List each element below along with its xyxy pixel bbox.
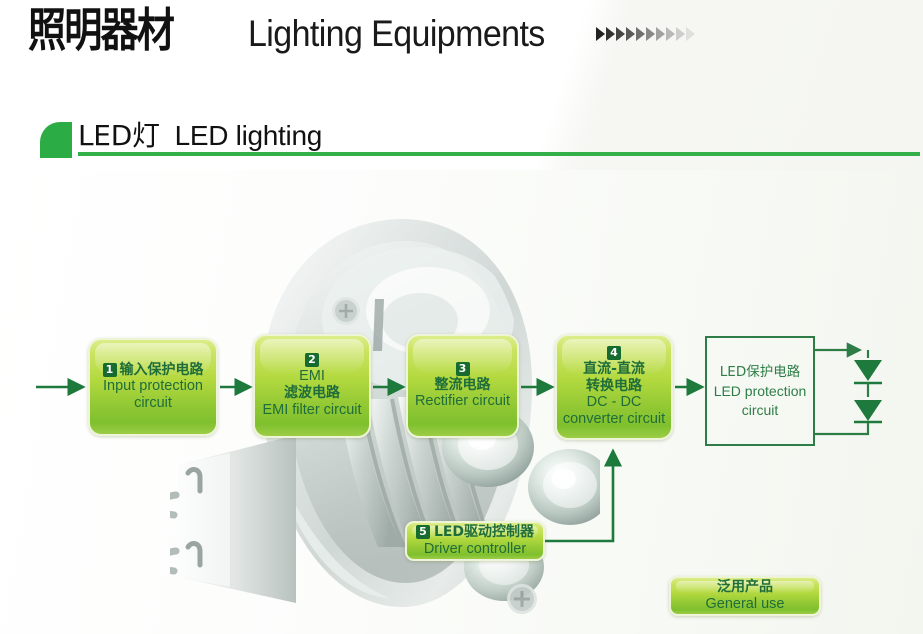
quarter-round-marker-icon bbox=[40, 122, 72, 158]
block-label-chinese: 滤波电路 bbox=[284, 385, 340, 401]
block-label-english-1: LED protection bbox=[714, 382, 807, 401]
triangle-right-icon bbox=[596, 27, 605, 41]
block-label-chinese: LED驱动控制器 bbox=[434, 524, 534, 540]
section-title-english: LED lighting bbox=[175, 120, 322, 151]
block-label-chinese: 输入保护电路 bbox=[120, 362, 204, 378]
page-header: 照明器材 Lighting Equipments 照明器材 Lighting E… bbox=[0, 0, 923, 100]
title-reflection: 照明器材 Lighting Equipments bbox=[28, 58, 648, 96]
triangle-right-icon bbox=[666, 27, 675, 41]
block-badge: 2 bbox=[305, 353, 319, 367]
triangle-right-icon bbox=[646, 27, 655, 41]
page-title-chinese: 照明器材 bbox=[28, 8, 173, 54]
flow-block-input-protection[interactable]: 1 输入保护电路 Input protection circuit bbox=[88, 338, 218, 436]
block-label-english-2: EMI filter circuit bbox=[262, 402, 361, 419]
triangle-right-icon bbox=[656, 27, 665, 41]
title-arrow-strip bbox=[596, 27, 695, 41]
triangle-right-icon bbox=[686, 27, 695, 41]
triangle-right-icon bbox=[626, 27, 635, 41]
section-header: LED灯 LED lighting bbox=[0, 106, 923, 162]
page-title-english: Lighting Equipments bbox=[248, 16, 545, 53]
block-label-english-1: Input protection bbox=[103, 378, 203, 395]
block-label-english-1: General use bbox=[706, 596, 785, 613]
title-reflection-chinese: 照明器材 bbox=[28, 58, 64, 96]
block-label-english-1: Rectifier circuit bbox=[415, 393, 510, 410]
block-label-chinese-1: 直流-直流 bbox=[583, 361, 645, 377]
block-badge: 3 bbox=[456, 362, 470, 376]
flow-block-emi-filter[interactable]: 2 EMI 滤波电路 EMI filter circuit bbox=[253, 334, 371, 438]
block-label-chinese-2: 转换电路 bbox=[586, 378, 642, 394]
block-badge: 4 bbox=[607, 346, 621, 360]
section-title-chinese: LED灯 bbox=[78, 119, 160, 152]
led-bulb-photo bbox=[170, 195, 600, 634]
flow-block-led-protection[interactable]: LED保护电路 LED protection circuit bbox=[705, 336, 815, 446]
block-label-english-1: Driver controller bbox=[424, 541, 526, 558]
block-label-english-1: EMI bbox=[299, 368, 325, 385]
triangle-right-icon bbox=[616, 27, 625, 41]
flow-block-dc-dc-converter[interactable]: 4 直流-直流 转换电路 DC - DC converter circuit bbox=[555, 334, 673, 440]
block-label-chinese: 泛用产品 bbox=[717, 579, 773, 595]
triangle-right-icon bbox=[676, 27, 685, 41]
flow-block-driver-controller[interactable]: 5 LED驱动控制器 Driver controller bbox=[405, 521, 545, 561]
triangle-right-icon bbox=[606, 27, 615, 41]
title-reflection-english: Lighting Equipments bbox=[248, 58, 422, 96]
block-badge: 5 bbox=[416, 525, 430, 539]
block-label-english-2: converter circuit bbox=[563, 411, 665, 428]
block-label-chinese: 整流电路 bbox=[435, 377, 491, 393]
block-label-chinese: LED保护电路 bbox=[720, 362, 800, 382]
block-label-english-2: circuit bbox=[134, 395, 172, 412]
flow-block-general-use[interactable]: 泛用产品 General use bbox=[669, 576, 821, 616]
section-divider bbox=[78, 152, 920, 156]
flow-block-rectifier[interactable]: 3 整流电路 Rectifier circuit bbox=[406, 334, 519, 438]
triangle-right-icon bbox=[636, 27, 645, 41]
block-label-english-1: DC - DC bbox=[587, 394, 642, 411]
block-badge: 1 bbox=[103, 363, 117, 377]
section-title: LED灯 LED lighting bbox=[78, 114, 322, 154]
block-label-english-2: circuit bbox=[742, 401, 779, 420]
